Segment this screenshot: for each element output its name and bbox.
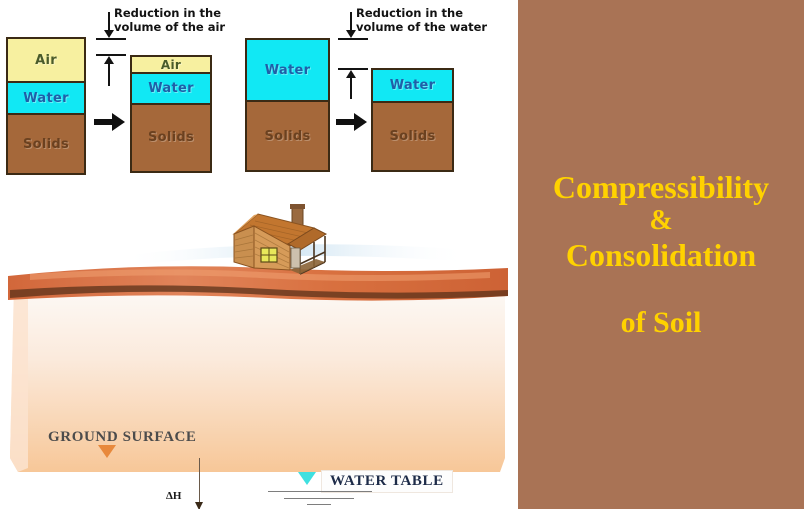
layer-solids: Solids <box>8 115 84 173</box>
process-right-arrow-icon <box>94 112 126 132</box>
title-block: Compressibility & Consolidation of Soil <box>518 0 804 509</box>
layer-solids-label: Solids <box>264 129 310 144</box>
layer-water: Water <box>8 83 84 115</box>
title-panel: Compressibility & Consolidation of Soil <box>518 0 804 509</box>
water-callout-down-arrow-icon <box>346 30 356 38</box>
down-triangle-marker-icon <box>98 445 116 458</box>
log-cabin-house-icon <box>218 200 330 282</box>
title-line-ampersand: & <box>649 206 672 236</box>
process-right-arrow-icon <box>336 112 368 132</box>
phase-block-before-water-reduction: Water Solids <box>245 38 330 172</box>
phase-block-after-water-reduction: Water Solids <box>371 68 454 172</box>
layer-water: Water <box>373 70 452 103</box>
slide-root: Reduction in the volume of the air Air W… <box>0 0 804 509</box>
callout-water-reduction: Reduction in the volume of the water <box>356 6 487 34</box>
water-table-label: WATER TABLE <box>330 473 444 489</box>
layer-solids-label: Solids <box>148 130 194 145</box>
title-line-compressibility: Compressibility <box>553 170 769 205</box>
title-line-of-soil: of Soil <box>621 307 702 339</box>
water-callout-top-rule <box>338 38 368 40</box>
layer-solids: Solids <box>132 105 210 171</box>
settlement-arrow-icon <box>195 502 203 509</box>
callout-water-line1: Reduction in the <box>356 6 487 20</box>
ground-cross-section-scene: GROUND SURFACE WATER TABLE ΔH H <box>0 186 518 509</box>
layer-water-label: Water <box>390 78 436 93</box>
air-callout-stem-lower <box>108 63 110 86</box>
layer-solids-label: Solids <box>389 129 435 144</box>
layer-air: Air <box>8 39 84 83</box>
phase-block-after-air-reduction: Air Water Solids <box>130 55 212 173</box>
layer-solids: Solids <box>373 103 452 170</box>
layer-solids: Solids <box>247 102 328 170</box>
layer-water-label: Water <box>148 81 194 96</box>
layer-solids-label: Solids <box>23 137 69 152</box>
layer-air-label: Air <box>161 58 181 72</box>
layer-water-label: Water <box>265 63 311 78</box>
water-table-label-box: WATER TABLE <box>321 470 453 493</box>
illustration-panel: Reduction in the volume of the air Air W… <box>0 0 518 509</box>
callout-water-line2: volume of the water <box>356 20 487 34</box>
phase-block-before-air-reduction: Air Water Solids <box>6 37 86 175</box>
water-callout-stem-lower <box>350 77 352 99</box>
air-callout-top-rule <box>96 38 126 40</box>
layer-water: Water <box>132 74 210 105</box>
callout-air-reduction: Reduction in the volume of the air <box>114 6 225 34</box>
callout-air-line2: volume of the air <box>114 20 225 34</box>
layer-air: Air <box>132 57 210 74</box>
water-table-line-3 <box>307 504 331 505</box>
layer-water: Water <box>247 40 328 102</box>
layer-water-label: Water <box>23 91 69 106</box>
air-callout-down-arrow-icon <box>104 30 114 38</box>
layer-air-label: Air <box>35 53 57 68</box>
settlement-label: ΔH <box>166 490 181 502</box>
title-line-consolidation: Consolidation <box>566 238 756 273</box>
water-table-line-1 <box>268 491 372 492</box>
water-table-line-2 <box>284 498 354 499</box>
callout-air-line1: Reduction in the <box>114 6 225 20</box>
water-table-triangle-icon <box>298 472 316 485</box>
ground-surface-label: GROUND SURFACE <box>48 429 197 446</box>
